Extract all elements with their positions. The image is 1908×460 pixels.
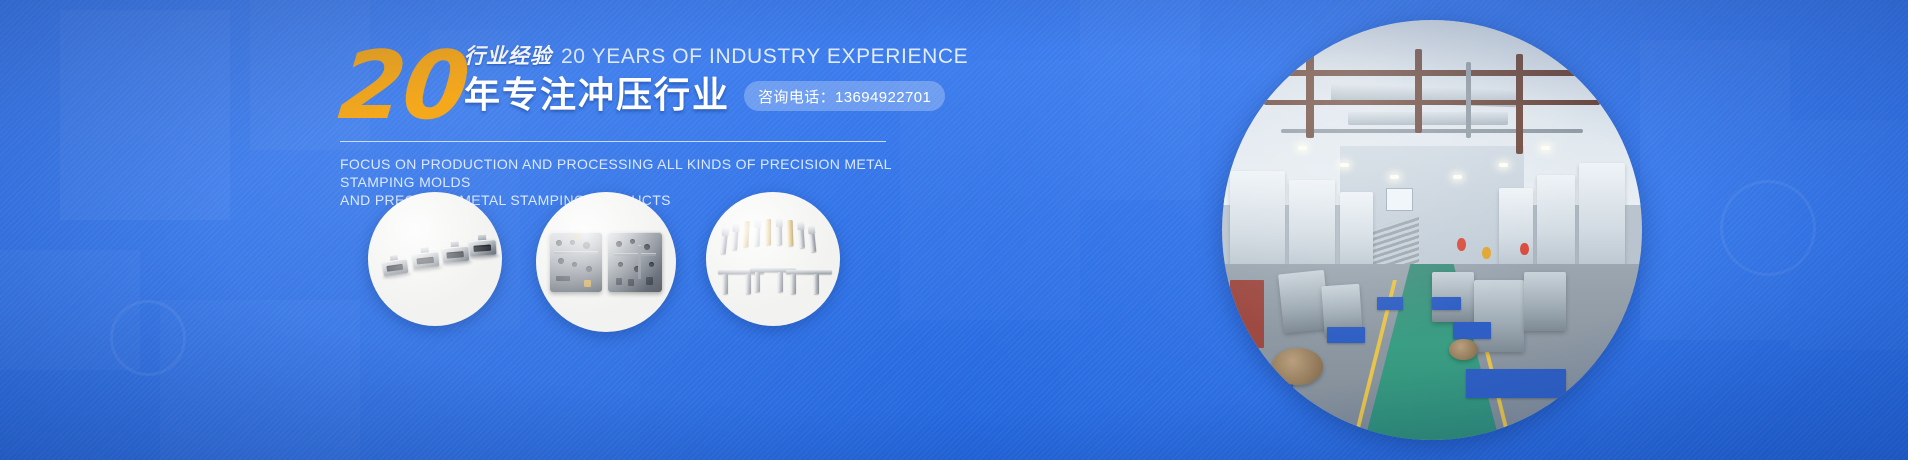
product-circle-terminal-pins[interactable] bbox=[706, 192, 840, 326]
factory-workshop-photo[interactable] bbox=[1222, 20, 1642, 440]
product-circle-stamping-die[interactable] bbox=[536, 192, 676, 332]
promo-banner: 20 行业经验 20 YEARS OF INDUSTRY EXPERIENCE … bbox=[0, 0, 1908, 460]
headline-line-1: 行业经验 20 YEARS OF INDUSTRY EXPERIENCE bbox=[464, 40, 968, 70]
product-circle-connectors[interactable] bbox=[368, 192, 502, 326]
stamping-die-illustration bbox=[536, 192, 676, 332]
headline: 20 行业经验 20 YEARS OF INDUSTRY EXPERIENCE … bbox=[340, 40, 900, 135]
phone-badge[interactable]: 咨询电话：13694922701 bbox=[744, 81, 945, 111]
terminal-pins-illustration bbox=[706, 192, 840, 326]
connector-parts-illustration bbox=[368, 192, 502, 326]
headline-text: 行业经验 20 YEARS OF INDUSTRY EXPERIENCE 年专注… bbox=[464, 40, 968, 118]
headline-copy-block: 20 行业经验 20 YEARS OF INDUSTRY EXPERIENCE … bbox=[340, 40, 900, 135]
description-line-1: FOCUS ON PRODUCTION AND PROCESSING ALL K… bbox=[340, 155, 896, 191]
years-number: 20 bbox=[335, 42, 471, 132]
divider-line bbox=[340, 141, 886, 142]
workshop-scene bbox=[1222, 20, 1642, 440]
headline-en-small: 20 YEARS OF INDUSTRY EXPERIENCE bbox=[561, 45, 968, 69]
headline-line-2: 年专注冲压行业 咨询电话：13694922701 bbox=[464, 74, 968, 118]
headline-cn-small: 行业经验 bbox=[464, 40, 552, 70]
headline-cn-big: 年专注冲压行业 bbox=[464, 74, 730, 118]
